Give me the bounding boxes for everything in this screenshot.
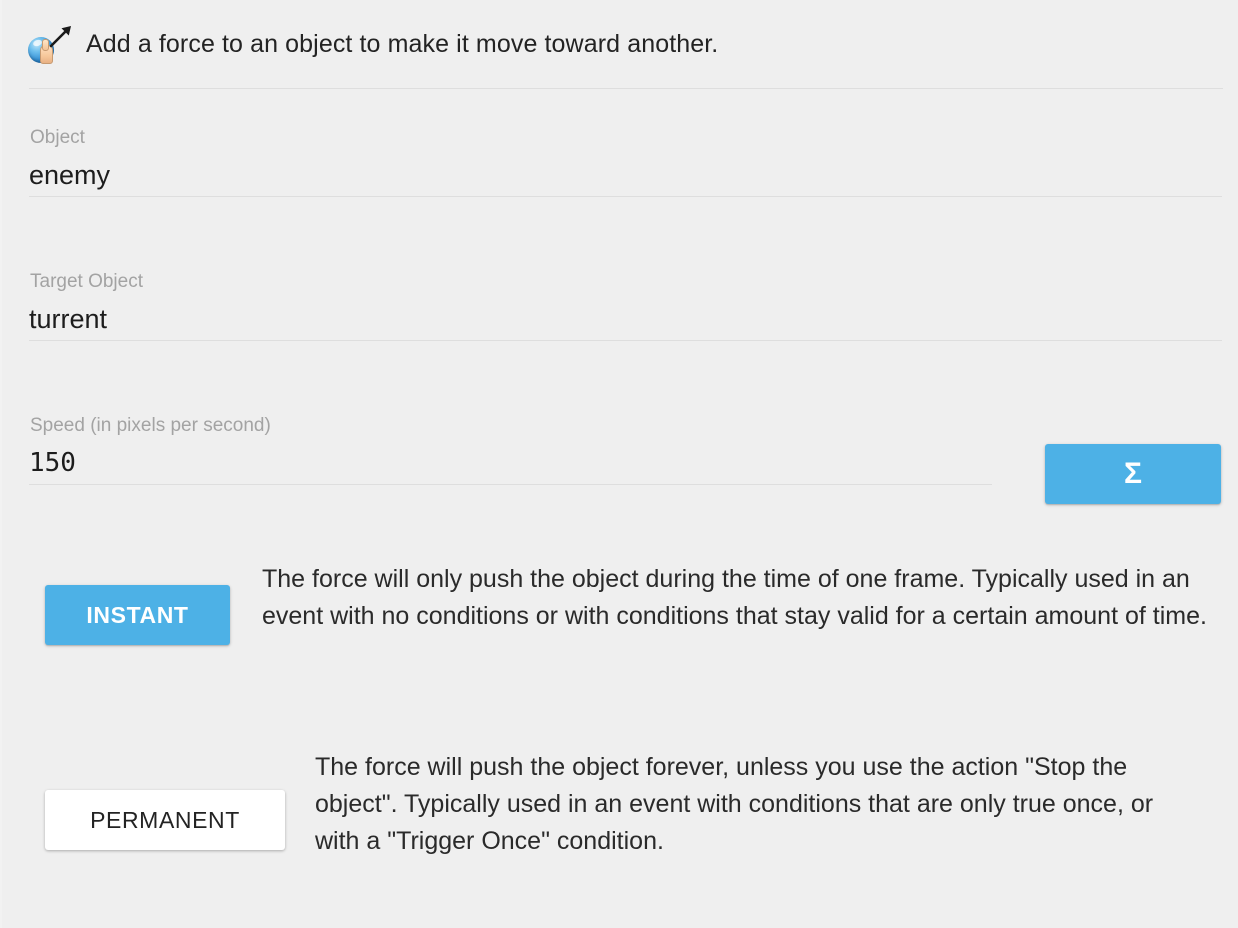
mode-permanent-button[interactable]: PERMANENT	[45, 790, 285, 850]
panel-header: Add a force to an object to make it move…	[2, 0, 1238, 88]
field-target-object-underline	[29, 340, 1222, 341]
field-object-underline	[29, 196, 1222, 197]
field-object-label: Object	[30, 126, 1222, 150]
field-object-input[interactable]: enemy	[29, 158, 1222, 196]
force-push-arrow-icon	[26, 23, 74, 65]
header-divider	[29, 88, 1223, 89]
expression-editor-button[interactable]: Σ	[1045, 444, 1221, 504]
field-target-object: Target Object turrent	[29, 270, 1222, 341]
field-target-object-input[interactable]: turrent	[29, 302, 1222, 340]
field-object: Object enemy	[29, 126, 1222, 197]
field-target-object-label: Target Object	[30, 270, 1222, 294]
mode-permanent-description: The force will push the object forever, …	[315, 749, 1195, 860]
action-parameters-panel: Add a force to an object to make it move…	[0, 0, 1238, 928]
field-speed: Speed (in pixels per second) 150	[29, 414, 1222, 485]
page-title: Add a force to an object to make it move…	[86, 30, 718, 59]
field-speed-label: Speed (in pixels per second)	[30, 414, 1222, 438]
field-speed-input[interactable]: 150	[29, 446, 1222, 484]
field-speed-underline	[29, 484, 992, 485]
arrow-up-right-icon	[48, 23, 74, 49]
mode-instant-button[interactable]: INSTANT	[45, 585, 230, 645]
mode-instant-description: The force will only push the object duri…	[262, 561, 1207, 635]
